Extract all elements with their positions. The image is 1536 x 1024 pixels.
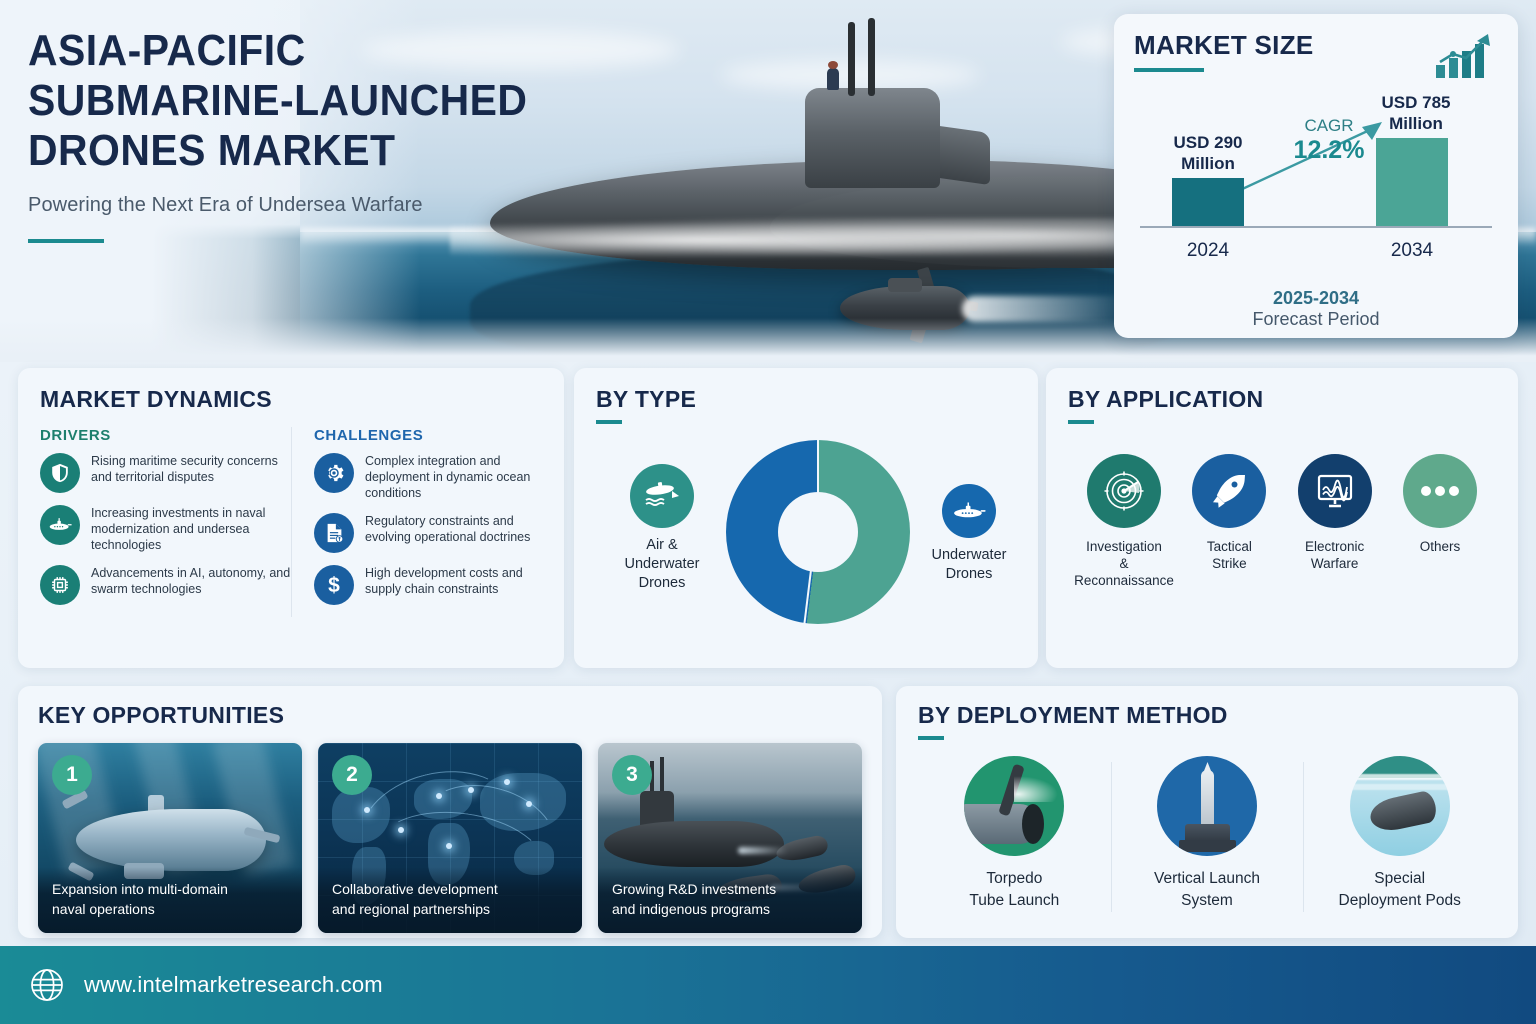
- by-type-title: BY TYPE: [596, 386, 1016, 413]
- bar-2034-value-l1: USD 785: [1382, 93, 1451, 112]
- opportunity-caption-l1: Growing R&D investments: [612, 881, 776, 897]
- challenge-item: Complex integration and deployment in dy…: [314, 453, 542, 501]
- opportunity-caption: Collaborative development and regional p…: [318, 867, 582, 933]
- legend-left-l3: Drones: [639, 575, 686, 591]
- title-line-2: SUBMARINE-LAUNCHED: [28, 76, 605, 126]
- drivers-heading: DRIVERS: [40, 427, 291, 444]
- opportunity-caption: Growing R&D investments and indigenous p…: [598, 867, 862, 933]
- monitor-waveform-icon: [1298, 454, 1372, 528]
- by-type-accent-rule: [596, 420, 622, 424]
- axis-label-2024: 2024: [1162, 240, 1254, 262]
- by-application-title: BY APPLICATION: [1068, 386, 1496, 413]
- title-line-1: ASIA-PACIFIC: [28, 26, 605, 76]
- bar-2034-value-l2: Million: [1389, 114, 1443, 133]
- deployment-label: Torpedo Tube Launch: [918, 868, 1111, 912]
- globe-icon: [28, 966, 66, 1004]
- by-deployment-method-title: BY DEPLOYMENT METHOD: [918, 702, 1496, 729]
- application-label: Tactical Strike: [1177, 538, 1281, 572]
- title-accent-rule: [28, 239, 104, 243]
- opportunity-caption: Expansion into multi-domain naval operat…: [38, 867, 302, 933]
- torpedo-tube-icon: [964, 756, 1064, 856]
- drivers-column: DRIVERS Rising maritime security concern…: [40, 427, 291, 617]
- driver-item: Increasing investments in naval moderniz…: [40, 505, 291, 553]
- app-label-l1: Others: [1420, 539, 1461, 554]
- svg-text:$: $: [328, 574, 340, 597]
- opportunity-caption-l2: and regional partnerships: [332, 901, 490, 917]
- app-label-l1: Electronic: [1305, 539, 1364, 554]
- deployment-label: Vertical Launch System: [1111, 868, 1304, 912]
- by-deployment-method-panel: BY DEPLOYMENT METHOD Torpedo Tube Launch: [896, 686, 1518, 938]
- challenges-column: CHALLENGES Complex integration and deplo…: [291, 427, 542, 617]
- challenge-text: High development costs and supply chain …: [365, 565, 542, 597]
- deployment-item-special-pods[interactable]: Special Deployment Pods: [1303, 756, 1496, 912]
- opportunity-caption-l1: Collaborative development: [332, 881, 498, 897]
- forecast-period-block: 2025-2034 Forecast Period: [1114, 288, 1518, 330]
- market-size-bar-chart: USD 290 Million USD 785 Million CAGR 12.…: [1134, 110, 1500, 270]
- by-type-legend-right: Underwater Drones: [914, 484, 1024, 584]
- deployment-label: Special Deployment Pods: [1303, 868, 1496, 912]
- axis-label-2034: 2034: [1366, 240, 1458, 262]
- by-type-donut-chart: [726, 440, 910, 624]
- application-item-others[interactable]: Others: [1388, 454, 1492, 589]
- dollar-icon: $: [314, 565, 354, 605]
- deployment-label-l2: System: [1181, 892, 1233, 909]
- deployment-label-l1: Torpedo: [986, 870, 1042, 887]
- air-underwater-drone-icon: [630, 464, 694, 528]
- forecast-period-range: 2025-2034: [1114, 288, 1518, 309]
- driver-item: Rising maritime security concerns and te…: [40, 453, 291, 493]
- radar-icon: [1087, 454, 1161, 528]
- opportunity-number-badge: 1: [52, 755, 92, 795]
- key-opportunities-panel: KEY OPPORTUNITIES 1 Expansion into multi…: [18, 686, 882, 938]
- underwater-drone-icon: [942, 484, 996, 538]
- growth-chart-icon: [1432, 32, 1496, 82]
- challenge-item: Regulatory constraints and evolving oper…: [314, 513, 542, 553]
- website-url[interactable]: www.intelmarketresearch.com: [84, 972, 383, 998]
- market-dynamics-title: MARKET DYNAMICS: [40, 386, 542, 413]
- application-label: Electronic Warfare: [1283, 538, 1387, 572]
- application-item-investigation[interactable]: Investigation & Reconnaissance: [1072, 454, 1176, 589]
- application-item-tactical-strike[interactable]: Tactical Strike: [1177, 454, 1281, 589]
- app-label-l2: Warfare: [1311, 556, 1359, 571]
- opportunity-caption-l2: and indigenous programs: [612, 901, 770, 917]
- app-label-l2: Strike: [1212, 556, 1247, 571]
- by-application-accent-rule: [1068, 420, 1094, 424]
- opportunity-card[interactable]: 2 Collaborative development and regional…: [318, 743, 582, 933]
- application-label: Others: [1388, 538, 1492, 555]
- opportunity-card[interactable]: 1 Expansion into multi-domain naval oper…: [38, 743, 302, 933]
- forecast-period-label: Forecast Period: [1114, 309, 1518, 330]
- document-icon: [314, 513, 354, 553]
- challenge-text: Complex integration and deployment in dy…: [365, 453, 542, 501]
- shield-icon: [40, 453, 80, 493]
- by-deployment-accent-rule: [918, 736, 944, 740]
- by-type-legend-left-label: Air & Underwater Drones: [604, 536, 720, 593]
- bar-2024-value-l2: Million: [1181, 154, 1235, 173]
- driver-text: Advancements in AI, autonomy, and swarm …: [91, 565, 291, 597]
- donut-divider: [817, 440, 819, 494]
- deployment-label-l1: Vertical Launch: [1154, 870, 1260, 887]
- by-application-panel: BY APPLICATION Investigation & Reconnais…: [1046, 368, 1518, 668]
- driver-text: Rising maritime security concerns and te…: [91, 453, 291, 485]
- ellipsis-icon: [1403, 454, 1477, 528]
- bar-2034: [1376, 138, 1448, 226]
- driver-text: Increasing investments in naval moderniz…: [91, 505, 291, 553]
- deployment-label-l2: Deployment Pods: [1339, 892, 1461, 909]
- challenge-text: Regulatory constraints and evolving oper…: [365, 513, 542, 545]
- app-label-l2: & Reconnaissance: [1074, 556, 1174, 588]
- opportunity-number-badge: 3: [612, 755, 652, 795]
- market-size-card: MARKET SIZE USD 290 Million USD 785 Mill…: [1114, 14, 1518, 338]
- by-type-panel: BY TYPE Air & Underwater Drones: [574, 368, 1038, 668]
- by-type-legend-right-label: Underwater Drones: [914, 546, 1024, 584]
- app-label-l1: Tactical: [1207, 539, 1252, 554]
- opportunity-caption-l1: Expansion into multi-domain: [52, 881, 228, 897]
- deployment-item-vertical-launch[interactable]: Vertical Launch System: [1111, 756, 1304, 912]
- legend-left-l1: Air &: [646, 537, 677, 553]
- app-label-l1: Investigation: [1086, 539, 1162, 554]
- deployment-item-torpedo-tube[interactable]: Torpedo Tube Launch: [918, 756, 1111, 912]
- market-dynamics-panel: MARKET DYNAMICS DRIVERS Rising maritime …: [18, 368, 564, 668]
- gear-icon: [314, 453, 354, 493]
- chip-icon: [40, 565, 80, 605]
- opportunity-card[interactable]: 3 Growing R&D investments and indigenous…: [598, 743, 862, 933]
- cagr-block: CAGR 12.2%: [1274, 116, 1384, 164]
- challenges-heading: CHALLENGES: [314, 427, 542, 444]
- by-type-legend-left: Air & Underwater Drones: [604, 464, 720, 593]
- opportunity-number-badge: 2: [332, 755, 372, 795]
- legend-right-l1: Underwater: [932, 547, 1007, 563]
- application-label: Investigation & Reconnaissance: [1072, 538, 1176, 589]
- rocket-icon: [1192, 454, 1266, 528]
- cagr-label: CAGR: [1274, 116, 1384, 136]
- bar-2024-value: USD 290 Million: [1152, 132, 1264, 174]
- page-title: ASIA-PACIFIC SUBMARINE-LAUNCHED DRONES M…: [28, 26, 648, 243]
- deployment-label-l2: Tube Launch: [969, 892, 1059, 909]
- key-opportunities-title: KEY OPPORTUNITIES: [38, 702, 862, 729]
- page-subtitle: Powering the Next Era of Undersea Warfar…: [28, 194, 648, 217]
- deployment-pod-icon: [1350, 756, 1450, 856]
- bar-2024: [1172, 178, 1244, 226]
- legend-left-l2: Underwater: [625, 556, 700, 572]
- challenge-item: $ High development costs and supply chai…: [314, 565, 542, 605]
- title-line-3: DRONES MARKET: [28, 126, 605, 176]
- market-size-accent-rule: [1134, 68, 1204, 72]
- cagr-value: 12.2%: [1274, 136, 1384, 164]
- driver-item: Advancements in AI, autonomy, and swarm …: [40, 565, 291, 605]
- deployment-label-l1: Special: [1374, 870, 1425, 887]
- bar-2024-value-l1: USD 290: [1174, 133, 1243, 152]
- footer-bar: www.intelmarketresearch.com: [0, 946, 1536, 1024]
- application-item-electronic-warfare[interactable]: Electronic Warfare: [1283, 454, 1387, 589]
- opportunity-caption-l2: naval operations: [52, 901, 155, 917]
- submarine-icon: [40, 505, 80, 545]
- vertical-launch-icon: [1157, 756, 1257, 856]
- chart-axis: [1140, 226, 1492, 228]
- legend-right-l2: Drones: [946, 566, 993, 582]
- donut-hole: [778, 492, 858, 572]
